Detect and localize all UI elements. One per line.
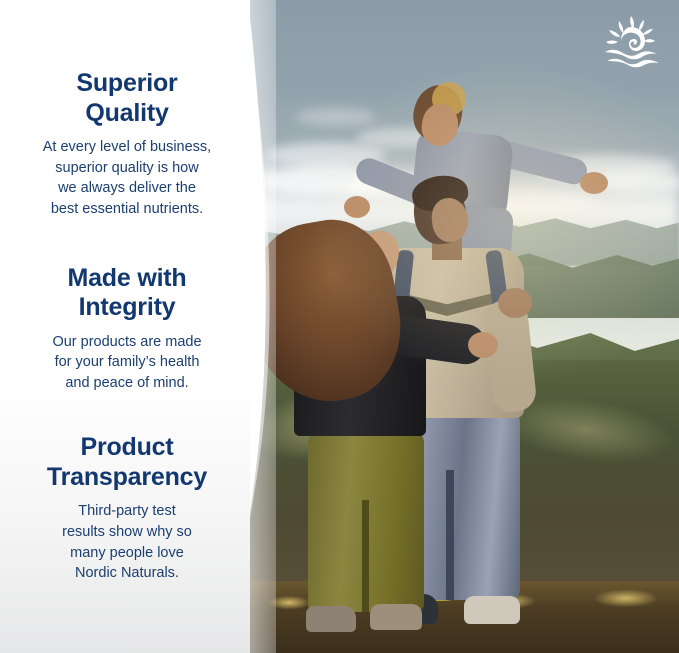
- father-leg-gap: [446, 470, 454, 600]
- sun-wave-logo-icon: [601, 14, 663, 70]
- value-block-made-with-integrity: Made with Integrity Our products are mad…: [18, 264, 236, 394]
- value-block-superior-quality: Superior Quality At every level of busin…: [18, 69, 236, 219]
- body-made-with-integrity: Our products are made for your family’s …: [18, 332, 236, 394]
- mother-leg-gap: [362, 500, 369, 612]
- child-left-hand: [344, 196, 370, 218]
- mother-right-shoe: [370, 604, 422, 630]
- brand-banner: Superior Quality At every level of busin…: [0, 0, 679, 653]
- body-product-transparency: Third-party test results show why so man…: [18, 501, 236, 583]
- heading-superior-quality: Superior Quality: [18, 69, 236, 128]
- family-photo: [236, 0, 679, 653]
- child-right-hand: [580, 172, 608, 194]
- heading-made-with-integrity: Made with Integrity: [18, 264, 236, 323]
- father-hand: [498, 288, 532, 318]
- text-panel: Superior Quality At every level of busin…: [0, 0, 250, 653]
- mother-left-shoe: [306, 606, 356, 632]
- body-superior-quality: At every level of business, superior qua…: [18, 137, 236, 219]
- mother-hand: [468, 332, 498, 358]
- family-group: [236, 0, 679, 653]
- value-block-product-transparency: Product Transparency Third-party test re…: [18, 433, 236, 583]
- father-right-shoe: [464, 596, 520, 624]
- heading-product-transparency: Product Transparency: [18, 433, 236, 492]
